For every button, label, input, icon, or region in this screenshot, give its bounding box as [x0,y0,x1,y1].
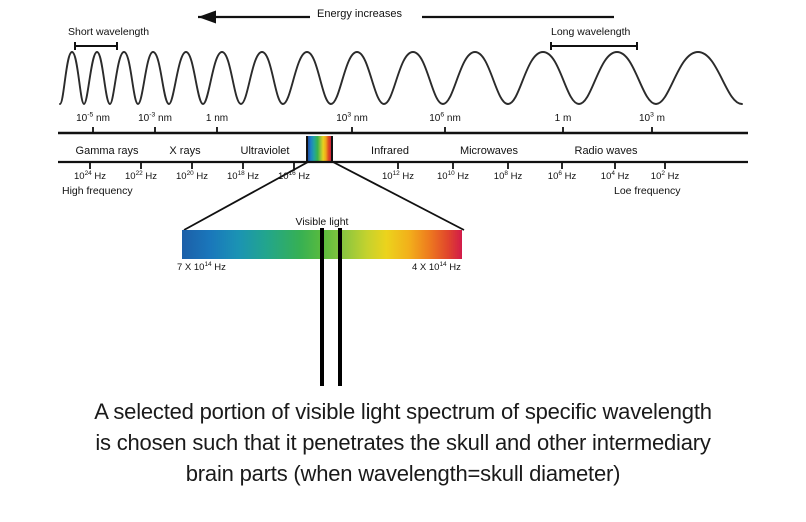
frequency-tick-label: 104 Hz [587,171,643,182]
band-label-microwaves: Microwaves [449,145,529,157]
caption-block: A selected portion of visible light spec… [22,396,784,489]
wavelength-tick-label: 10-5 nm [63,113,123,124]
selected-band-right-marker [338,228,342,260]
visible-light-right-frequency: 4 X 1014 Hz [412,262,461,273]
visible-light-left-frequency: 7 X 1014 Hz [177,262,226,273]
visible-light-mini-band-border [306,136,308,162]
selection-line-left [320,258,324,386]
selection-line-right [338,258,342,386]
em-spectrum-figure: Energy increases Short wavelength Long w… [0,0,806,522]
visible-light-mini-band-border [331,136,333,162]
caption-line-2: is chosen such that it penetrates the sk… [22,427,784,458]
high-frequency-label: High frequency [62,185,133,197]
band-label-gamma-rays: Gamma rays [67,145,147,157]
energy-increases-label: Energy increases [317,8,402,20]
energy-increases-arrow [190,6,620,28]
long-wavelength-label: Long wavelength [551,26,630,38]
caption-line-1: A selected portion of visible light spec… [22,396,784,427]
wavelength-tick-label: 1 m [533,113,593,124]
wavelength-tick-label: 106 nm [415,113,475,124]
frequency-tick-label: 106 Hz [534,171,590,182]
band-label-ultraviolet: Ultraviolet [225,145,305,157]
frequency-tick-label: 102 Hz [637,171,693,182]
wavelength-waveform [58,46,748,108]
band-label-radio-waves: Radio waves [566,145,646,157]
band-label-infrared: Infrared [350,145,430,157]
band-label-x-rays: X rays [145,145,225,157]
selected-band-left-marker [320,228,324,260]
visible-light-mini-band [308,136,331,162]
wavelength-tick-label: 103 nm [322,113,382,124]
frequency-tick-label: 1024 Hz [62,171,118,182]
wavelength-tick-label: 10-3 nm [125,113,185,124]
frequency-tick-label: 1022 Hz [113,171,169,182]
visible-light-title: Visible light [252,216,392,228]
wavelength-tick-label: 103 m [622,113,682,124]
frequency-tick-label: 108 Hz [480,171,536,182]
wavelength-tick-label: 1 nm [187,113,247,124]
wavelength-scale-axis [58,126,748,136]
caption-line-3: brain parts (when wavelength=skull diame… [22,458,784,489]
short-wavelength-label: Short wavelength [68,26,149,38]
low-frequency-label: Loe frequency [614,185,681,197]
